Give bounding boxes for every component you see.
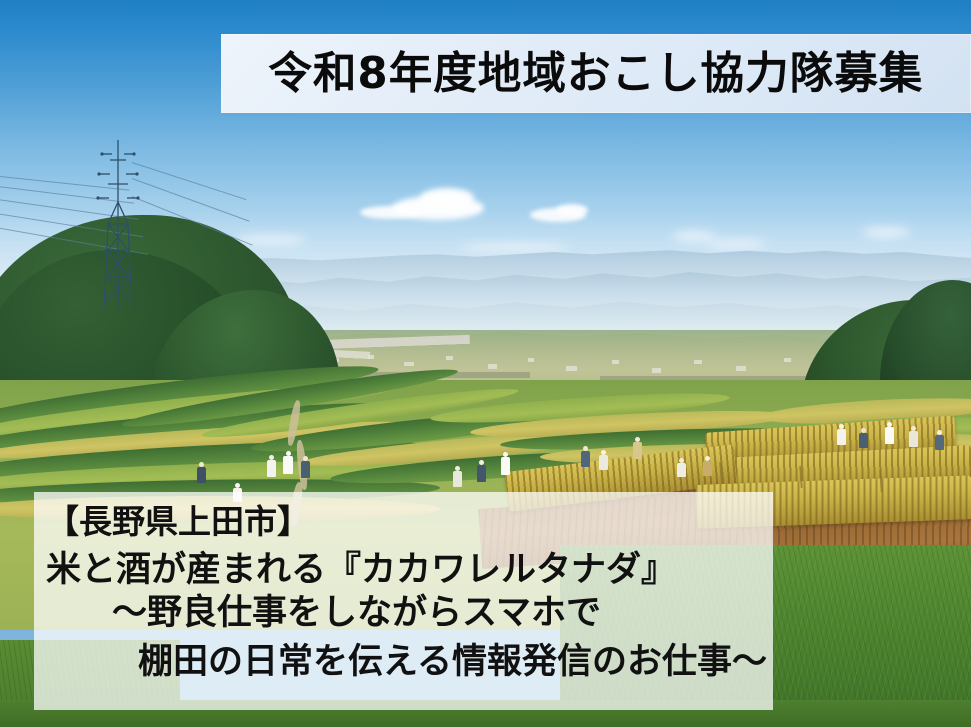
building (528, 358, 534, 362)
building (694, 360, 702, 364)
building (446, 356, 453, 360)
poster-title: 令和8年度地域おこし協力隊募集 (268, 52, 923, 96)
building (566, 366, 577, 371)
building (488, 364, 497, 369)
transmission-tower (96, 140, 140, 310)
poster-image: 令和8年度地域おこし協力隊募集 【長野県上田市】 米と酒が産まれる『カカワレルタ… (0, 0, 971, 727)
caption-subline-2: 棚田の日常を伝える情報発信のお仕事〜 (138, 643, 773, 682)
building (404, 362, 414, 366)
caption-location: 【長野県上田市】 (46, 504, 773, 541)
caption-headline: 米と酒が産まれる『カカワレルタナダ』 (46, 551, 773, 590)
cloud (420, 188, 474, 208)
title-banner: 令和8年度地域おこし協力隊募集 (221, 34, 971, 113)
building (652, 368, 661, 373)
building (736, 366, 746, 371)
caption-box: 【長野県上田市】 米と酒が産まれる『カカワレルタナダ』 〜野良仕事をしながらスマ… (34, 492, 773, 710)
building (612, 360, 619, 364)
caption-subline-1: 〜野良仕事をしながらスマホで (112, 594, 773, 633)
building (368, 355, 374, 359)
building (784, 358, 791, 362)
